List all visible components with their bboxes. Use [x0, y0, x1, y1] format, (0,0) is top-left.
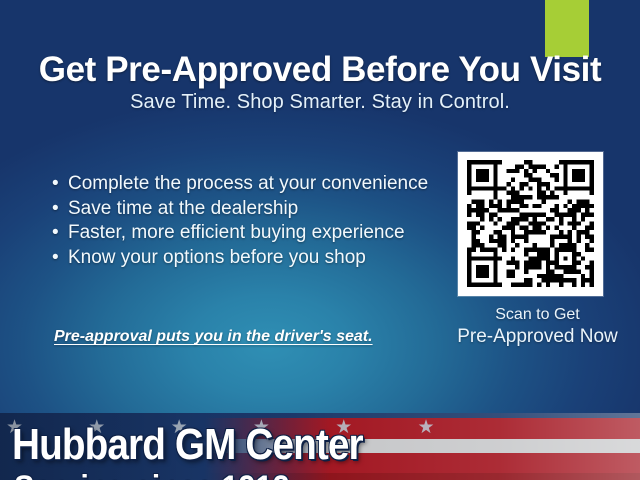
- list-item: •Know your options before you shop: [52, 246, 428, 271]
- page-subtitle: Save Time. Shop Smarter. Stay in Control…: [0, 91, 640, 114]
- dealership-name: Hubbard GM Center: [12, 420, 363, 470]
- list-item-label: Know your options before you shop: [68, 247, 366, 268]
- qr-caption: Scan to Get Pre-Approved Now: [440, 305, 635, 349]
- tagline-text: Pre-approval puts you in the driver's se…: [54, 328, 373, 346]
- qr-code-panel[interactable]: [458, 152, 603, 296]
- benefits-list: •Complete the process at your convenienc…: [52, 172, 428, 270]
- bullet-icon: •: [52, 172, 68, 197]
- presentation-slide: Get Pre-Approved Before You Visit Save T…: [0, 0, 640, 480]
- list-item: •Faster, more efficient buying experienc…: [52, 221, 428, 246]
- qr-caption-line2: Pre-Approved Now: [440, 325, 635, 349]
- page-title: Get Pre-Approved Before You Visit: [0, 50, 640, 90]
- list-item: •Complete the process at your convenienc…: [52, 172, 428, 197]
- list-item-label: Faster, more efficient buying experience: [68, 222, 405, 243]
- dealership-tagline: Serving since 1912: [14, 469, 290, 480]
- list-item: •Save time at the dealership: [52, 197, 428, 222]
- list-item-label: Complete the process at your convenience: [68, 173, 428, 194]
- dealership-banner: ★ ★ ★ ★ ★ ★ Hubbard GM Center Serving si…: [0, 413, 640, 480]
- list-item-label: Save time at the dealership: [68, 198, 298, 219]
- qr-code-icon[interactable]: [467, 160, 594, 287]
- bullet-icon: •: [52, 221, 68, 246]
- qr-caption-line1: Scan to Get: [440, 305, 635, 325]
- green-accent-bar: [545, 0, 589, 57]
- bullet-icon: •: [52, 246, 68, 271]
- bullet-icon: •: [52, 197, 68, 222]
